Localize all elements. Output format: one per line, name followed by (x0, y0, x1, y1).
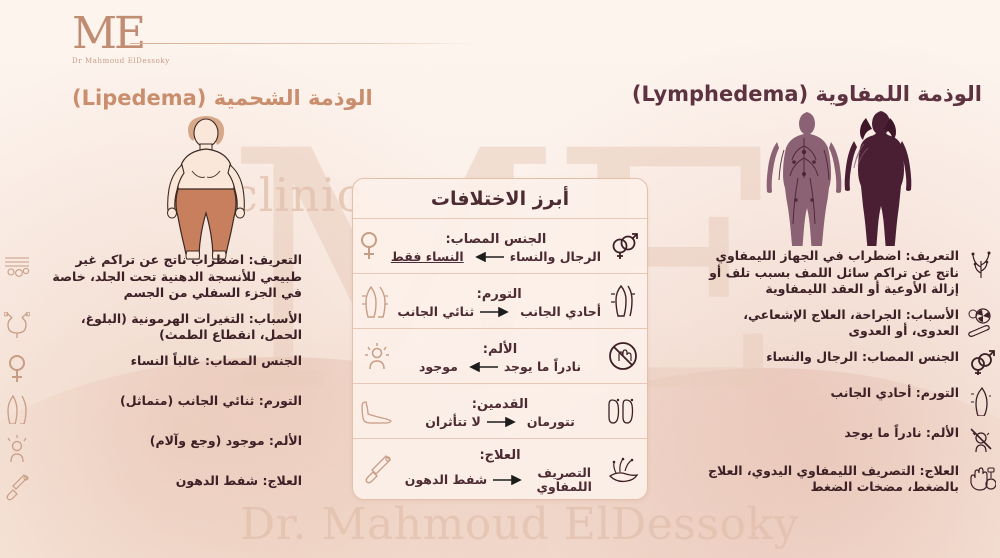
illustration-lymphedema-bodies (760, 108, 932, 246)
swollen-feet-icon (605, 396, 641, 426)
fact-text: الألم: موجود (وجع وآلام) (39, 433, 302, 450)
female-symbol-icon (352, 231, 387, 261)
list-item: الألم: نادراً ما يوجد (696, 425, 996, 454)
fact-text: الأسباب: التغيرات الهرمونية (البلوغ، الح… (39, 311, 302, 344)
row-value-left: ثنائي الجانب (397, 304, 474, 319)
list-item: التعريف: اضطراب ناتج عن تراكم غير طبيعي … (2, 252, 302, 302)
logo-divider (130, 43, 475, 44)
hand-compression-pump-icon (966, 463, 996, 494)
page-title-lipedema: الوذمة الشحمية (Lipedema) (72, 86, 373, 110)
fact-text: الجنس المصاب: الرجال والنساء (696, 349, 959, 366)
watermark-doctor-name: Dr. Mahmoud ElDessoky (240, 499, 799, 550)
male-female-symbol-icon (605, 232, 641, 260)
female-symbol-icon (2, 353, 32, 384)
row-value-left: شفط الدهون (405, 472, 487, 487)
comparison-row-feet: القدمين: تتورمان لا تتأثران (353, 383, 647, 438)
radiation-scalpel-icon (966, 307, 996, 340)
fact-text: العلاج: التصريف الليمفاوي اليدوي، العلاج… (696, 463, 959, 496)
list-item: الجنس المصاب: غالباً النساء (2, 353, 302, 384)
list-item: العلاج: شفط الدهون (2, 473, 302, 502)
no-pain-icon (605, 341, 641, 371)
pain-person-icon (2, 433, 32, 464)
fact-text: التعريف: اضطراب ناتج عن تراكم غير طبيعي … (39, 252, 302, 302)
lymphedema-facts-list: التعريف: اضطراب في الجهاز الليمفاوي ناتج… (696, 248, 996, 505)
page-title-lymphedema: الوذمة اللمفاوية (Lymphedema) (632, 82, 982, 106)
brand-logo: ME Dr Mahmoud ElDessoky (72, 12, 592, 68)
liposuction-cannula-icon (2, 473, 32, 502)
row-value-right: أحادي الجانب (520, 304, 601, 319)
lipedema-facts-list: التعريف: اضطراب ناتج عن تراكم غير طبيعي … (2, 252, 302, 511)
row-value-left: النساء فقط (391, 249, 464, 264)
pain-person-icon (359, 341, 395, 371)
two-swollen-legs-icon (2, 393, 32, 424)
row-value-right: تتورمان (527, 414, 575, 429)
comparison-card: أبرز الاختلافات الجنس المصاب: الرجال وال… (352, 178, 648, 500)
list-item: الأسباب: الجراحة، العلاج الإشعاعي، العدو… (696, 307, 996, 340)
female-silhouette (845, 111, 912, 246)
list-item: التورم: أحادي الجانب (696, 385, 996, 416)
comparison-row-pain: الألم: نادراً ما يوجد موجود (353, 328, 647, 383)
liposuction-cannula-icon (359, 454, 395, 484)
row-label: الجنس المصاب: (445, 232, 546, 247)
arrow-right-icon (487, 417, 521, 427)
list-item: الألم: موجود (وجع وآلام) (2, 433, 302, 464)
row-value-right: التصريف اللمفاوي (533, 466, 595, 495)
fact-text: الأسباب: الجراحة، العلاج الإشعاعي، العدو… (696, 307, 959, 340)
row-label: القدمين: (472, 397, 528, 412)
row-label: الألم: (483, 342, 517, 357)
one-swollen-leg-icon (966, 385, 996, 416)
row-label: العلاج: (479, 448, 520, 463)
row-value-right: الرجال والنساء (510, 249, 601, 264)
list-item: التورم: ثنائي الجانب (متماثل) (2, 393, 302, 424)
one-swollen-leg-icon (605, 284, 641, 318)
fact-text: التعريف: اضطراب في الجهاز الليمفاوي ناتج… (696, 248, 959, 298)
list-item: التعريف: اضطراب في الجهاز الليمفاوي ناتج… (696, 248, 996, 298)
arrow-left-icon (464, 362, 498, 372)
normal-foot-icon (359, 398, 395, 424)
illustration-lipedema-body (152, 113, 260, 263)
logo-monogram: ME (72, 12, 592, 56)
row-value-left: لا تتأثران (425, 414, 481, 429)
row-value-left: موجود (419, 359, 458, 374)
no-pain-icon (966, 425, 996, 454)
comparison-row-treatment: العلاج: التصريف اللمفاوي شفط الدهون (353, 438, 647, 499)
list-item: العلاج: التصريف الليمفاوي اليدوي، العلاج… (696, 463, 996, 496)
lymphatic-drainage-hand-icon (605, 454, 641, 484)
logo-subtitle: Dr Mahmoud ElDessoky (72, 57, 592, 65)
list-item: الجنس المصاب: الرجال والنساء (696, 349, 996, 376)
fat-tissue-skin-icon (2, 252, 32, 279)
male-silhouette (767, 112, 842, 246)
arrow-left-icon (470, 252, 504, 262)
list-item: الأسباب: التغيرات الهرمونية (البلوغ، الح… (2, 311, 302, 344)
lymph-vessel-icon (966, 248, 996, 279)
fact-text: الجنس المصاب: غالباً النساء (39, 353, 302, 370)
row-value-right: نادراً ما يوجد (504, 359, 581, 374)
fact-text: العلاج: شفط الدهون (39, 473, 302, 490)
comparison-row-gender: الجنس المصاب: الرجال والنساء النساء فقط (353, 218, 647, 273)
row-label: التورم: (477, 287, 522, 302)
arrow-right-icon (480, 307, 514, 317)
fact-text: التورم: ثنائي الجانب (متماثل) (39, 393, 302, 410)
fact-text: التورم: أحادي الجانب (696, 385, 959, 402)
two-swollen-legs-icon (357, 284, 393, 318)
hormone-uterus-icon (2, 311, 32, 340)
comparison-title: أبرز الاختلافات (353, 179, 647, 218)
comparison-row-swelling: التورم: أحادي الجانب ثنائي الجانب (353, 273, 647, 328)
male-female-symbol-icon (966, 349, 996, 376)
arrow-right-icon (493, 475, 527, 485)
fact-text: الألم: نادراً ما يوجد (696, 425, 959, 442)
